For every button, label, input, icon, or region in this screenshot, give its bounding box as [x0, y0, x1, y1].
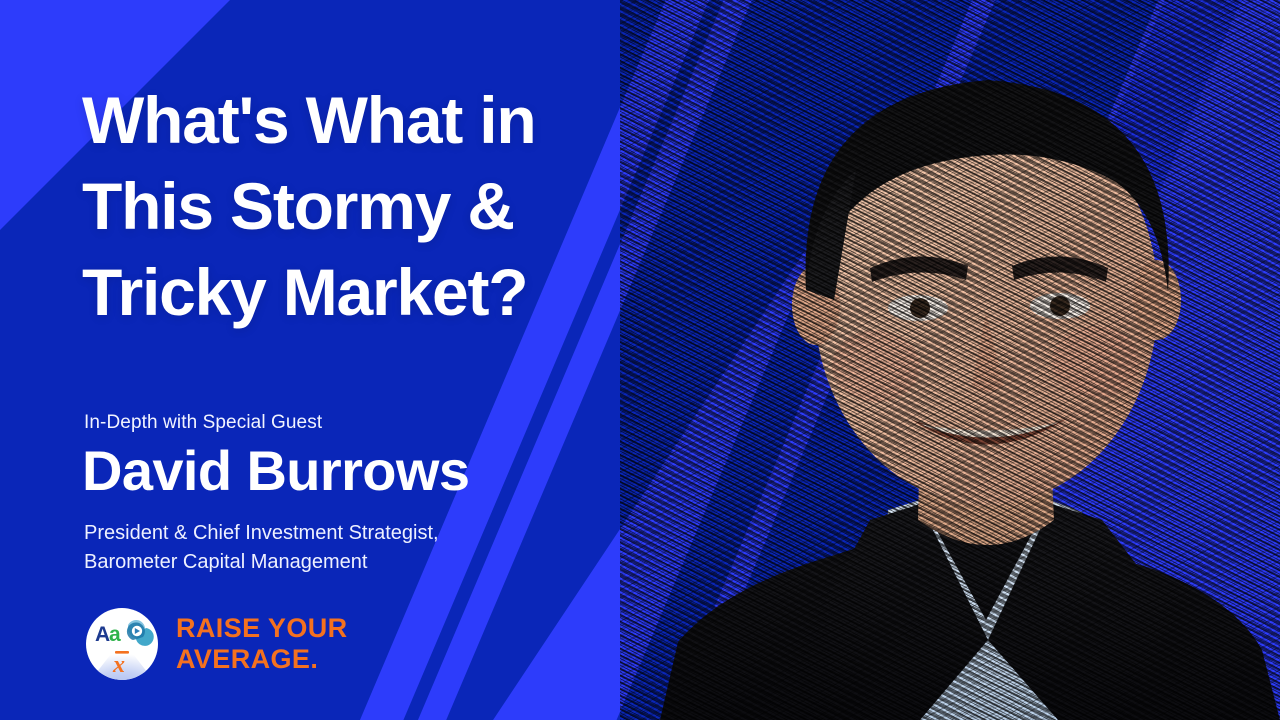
raise-your-average-badge-icon: A a x [82, 604, 162, 684]
content-block: What's What in This Stormy & Tricky Mark… [82, 0, 682, 720]
portrait-photo-icon [620, 0, 1280, 720]
guest-portrait [620, 0, 1280, 720]
svg-text:x: x [112, 652, 125, 678]
brand-wordmark-line-1: RAISE YOUR [176, 615, 348, 642]
brand-logo[interactable]: A a x [82, 604, 348, 684]
guest-eyebrow-label: In-Depth with Special Guest [84, 412, 322, 434]
svg-text:A: A [95, 623, 110, 646]
guest-role: President & Chief Investment Strategist,… [84, 519, 439, 577]
brand-wordmark: RAISE YOUR AVERAGE. [176, 615, 348, 673]
page-title: What's What in This Stormy & Tricky Mark… [82, 78, 536, 335]
title-card: What's What in This Stormy & Tricky Mark… [0, 0, 1280, 720]
svg-text:a: a [109, 623, 121, 646]
brand-wordmark-line-2: AVERAGE. [176, 646, 348, 673]
guest-name: David Burrows [82, 440, 469, 503]
